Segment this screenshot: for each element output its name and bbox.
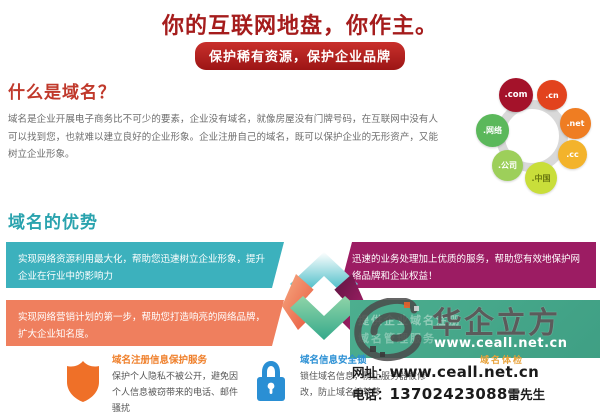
lock-icon-svg (250, 358, 292, 404)
page-title: 你的互联网地盘，你作主。 (0, 8, 600, 40)
contact-website-line: 网址：www.ceall.net.cn (352, 362, 600, 384)
section-what-body: 域名是企业开展电子商务比不可少的要素，企业没有域名，就像房屋没有门牌号码，在互联… (8, 111, 438, 164)
brand-panel-bg-line1: 提供企业域名注册 (358, 312, 462, 328)
brand-panel-bg-line2: 域名管理服务 (358, 330, 436, 346)
domain-bubble-com[interactable]: .com (499, 78, 533, 112)
advantage-box-3: 迅速的业务处理加上优质的服务，帮助您有效地保护网络品牌和企业权益！ (340, 242, 596, 288)
hero-subtitle-wrap: 保护稀有资源，保护企业品牌 (0, 42, 600, 70)
section-what-is-domain: 什么是域名？ 域名是企业开展电子商务比不可少的要素，企业没有域名，就像房屋没有门… (8, 78, 448, 164)
contact-block: 网址：www.ceall.net.cn 电话：13702423088雷先生 (352, 362, 600, 406)
brand-green-panel: 提供企业域名注册 域名管理服务 (350, 300, 600, 358)
lock-icon (250, 358, 292, 404)
section-advantage-heading-wrap: 域名的优势 (8, 208, 98, 233)
contact-phone-value[interactable]: 13702423088 (390, 385, 508, 403)
advantage-box-2: 实现网络营销计划的第一步，帮助您打造响亮的网络品牌，扩大企业知名度。 (6, 300, 284, 346)
promo-page: 你的互联网地盘，你作主。 保护稀有资源，保护企业品牌 什么是域名？ 域名是企业开… (0, 0, 600, 416)
advantage-box-1: 实现网络资源利用最大化，帮助您迅速树立企业形象，提升企业在行业中的影响力 (6, 242, 284, 288)
domain-bubble-net[interactable]: .net (560, 108, 591, 139)
contact-person: 雷先生 (508, 387, 546, 402)
section-what-heading: 什么是域名？ (8, 78, 448, 103)
domain-bubble-gongsi[interactable]: .公司 (492, 150, 523, 181)
domain-suffix-cluster: .com .cn .net .cc .中国 .公司 .网络 (468, 78, 596, 198)
feature-privacy-title: 域名注册信息保护服务 (112, 352, 242, 366)
domain-bubble-cc[interactable]: .cc (558, 140, 587, 169)
domain-bubble-cn[interactable]: .cn (537, 80, 567, 110)
shield-icon-svg (62, 358, 104, 404)
contact-website-value[interactable]: www.ceall.net.cn (390, 363, 540, 381)
feature-privacy-body: 保护个人隐私不被公开，避免因个人信息被窃带来的电话、邮件骚扰 (112, 370, 242, 416)
feature-privacy-protection: 域名注册信息保护服务 保护个人隐私不被公开，避免因个人信息被窃带来的电话、邮件骚… (112, 352, 242, 416)
contact-phone-label: 电话： (352, 387, 390, 402)
contact-website-label: 网址： (352, 365, 390, 380)
contact-phone-line: 电话：13702423088雷先生 (352, 384, 600, 406)
shield-icon (62, 358, 104, 404)
hero-banner: 你的互联网地盘，你作主。 保护稀有资源，保护企业品牌 (0, 0, 600, 72)
domain-bubble-china[interactable]: .中国 (525, 162, 557, 194)
section-advantage-heading: 域名的优势 (8, 208, 98, 233)
hero-subtitle-badge: 保护稀有资源，保护企业品牌 (195, 42, 405, 70)
domain-bubble-wangluo[interactable]: .网络 (476, 114, 509, 147)
